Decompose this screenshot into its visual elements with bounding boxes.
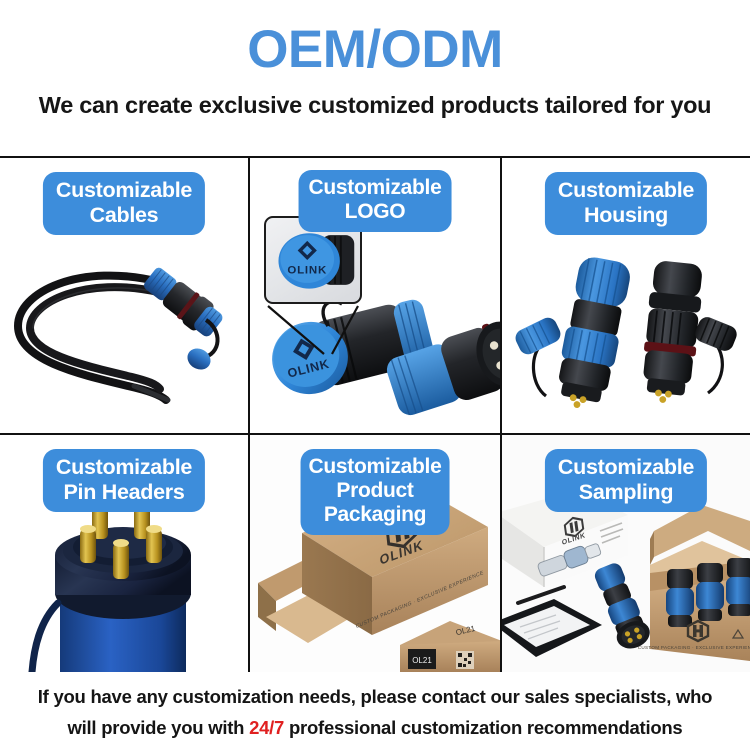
small-box-label-1: OL21 [412,656,432,665]
cable-illustration [0,214,250,429]
badge-customizable-housing: Customizable Housing [545,172,707,235]
footer-line-1: If you have any customization needs, ple… [38,686,712,708]
page-title: OEM/ODM [0,22,750,78]
grid-cell-housing[interactable]: Customizable Housing [502,158,750,435]
badge-customizable-sampling: Customizable Sampling [545,449,707,512]
badge-customizable-logo: Customizable LOGO [299,170,452,232]
oem-odm-banner: OEM/ODM We can create exclusive customiz… [0,0,750,750]
grid-cell-pin-headers[interactable]: Customizable Pin Headers [0,435,250,672]
badge-customizable-pin-headers: Customizable Pin Headers [43,449,205,512]
grid-cell-sampling[interactable]: Customizable Sampling [502,435,750,672]
svg-text:CUSTOM PACKAGING · EXCLUSIVE E: CUSTOM PACKAGING · EXCLUSIVE EXPERIENCE [638,645,750,650]
badge-customizable-product-packaging: Customizable Product Packaging [301,449,450,535]
callout-logo-label: OLINK [287,264,327,276]
footer-line-2-before: will provide you with [68,717,250,738]
header: OEM/ODM We can create exclusive customiz… [0,0,750,119]
grid-cell-logo[interactable]: Customizable LOGO [250,158,502,435]
page-subtitle: We can create exclusive customized produ… [0,92,750,119]
feature-grid: Customizable Cables [0,156,750,672]
footer-highlight-24-7: 24/7 [249,717,284,738]
grid-cell-cables[interactable]: Customizable Cables [0,158,250,435]
footer-line-2: will provide you with 24/7 professional … [68,717,683,739]
badge-customizable-cables: Customizable Cables [43,172,205,235]
footer: If you have any customization needs, ple… [0,674,750,750]
footer-line-2-after: professional customization recommendatio… [284,717,682,738]
grid-cell-product-packaging[interactable]: Customizable Product Packaging [250,435,502,672]
